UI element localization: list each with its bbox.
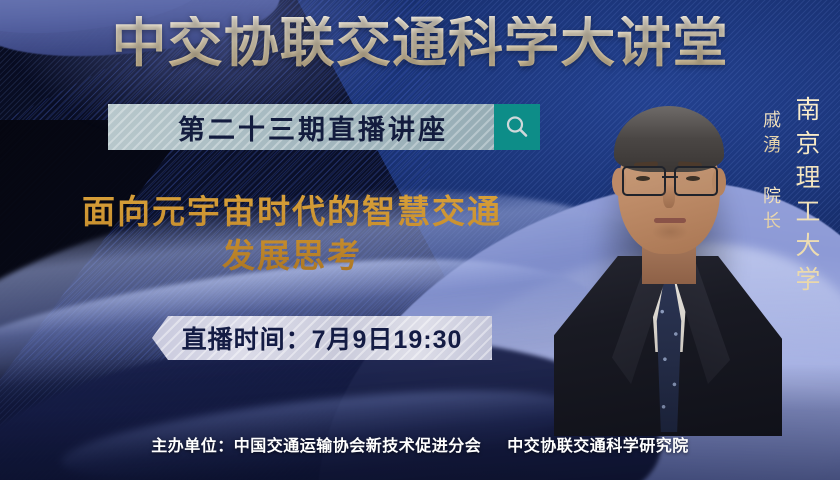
glasses-lens-right [674, 166, 718, 196]
glasses-lens-left [622, 166, 666, 196]
footer-organizers: 主办单位：中国交通运输协会新技术促进分会中交协联交通科学研究院 [0, 432, 840, 456]
footer-org-1: 中国交通运输协会新技术促进分会 [234, 438, 482, 455]
footer-label: 主办单位： [151, 438, 234, 455]
portrait-nose [663, 184, 675, 208]
lecture-title-line2: 发展思考 [42, 234, 542, 278]
portrait-mouth [654, 218, 686, 223]
search-icon [504, 114, 530, 140]
subtitle-text: 第二十三期直播讲座 [108, 108, 494, 147]
lecture-title: 面向元宇宙时代的智慧交通 发展思考 [42, 190, 542, 277]
live-lecture-poster: 中交协联交通科学大讲堂 第二十三期直播讲座 面向元宇宙时代的智慧交通 发展思考 … [0, 0, 840, 480]
speaker-name: 戚湧 [758, 110, 784, 160]
search-button[interactable] [494, 104, 540, 150]
live-time-badge: 直播时间：7月9日19:30 [152, 316, 492, 360]
lecture-title-line1: 面向元宇宙时代的智慧交通 [82, 193, 502, 230]
portrait-chin-shading [644, 224, 696, 250]
subtitle-bar: 第二十三期直播讲座 [108, 104, 540, 150]
speaker-role: 院长 [758, 186, 784, 236]
speaker-portrait [560, 96, 774, 426]
speaker-organization: 南京理工大学 [788, 96, 824, 300]
live-time-text: 直播时间：7月9日19:30 [182, 320, 463, 356]
main-title: 中交协联交通科学大讲堂 [0, 16, 840, 70]
footer-org-2: 中交协联交通科学研究院 [507, 438, 689, 455]
